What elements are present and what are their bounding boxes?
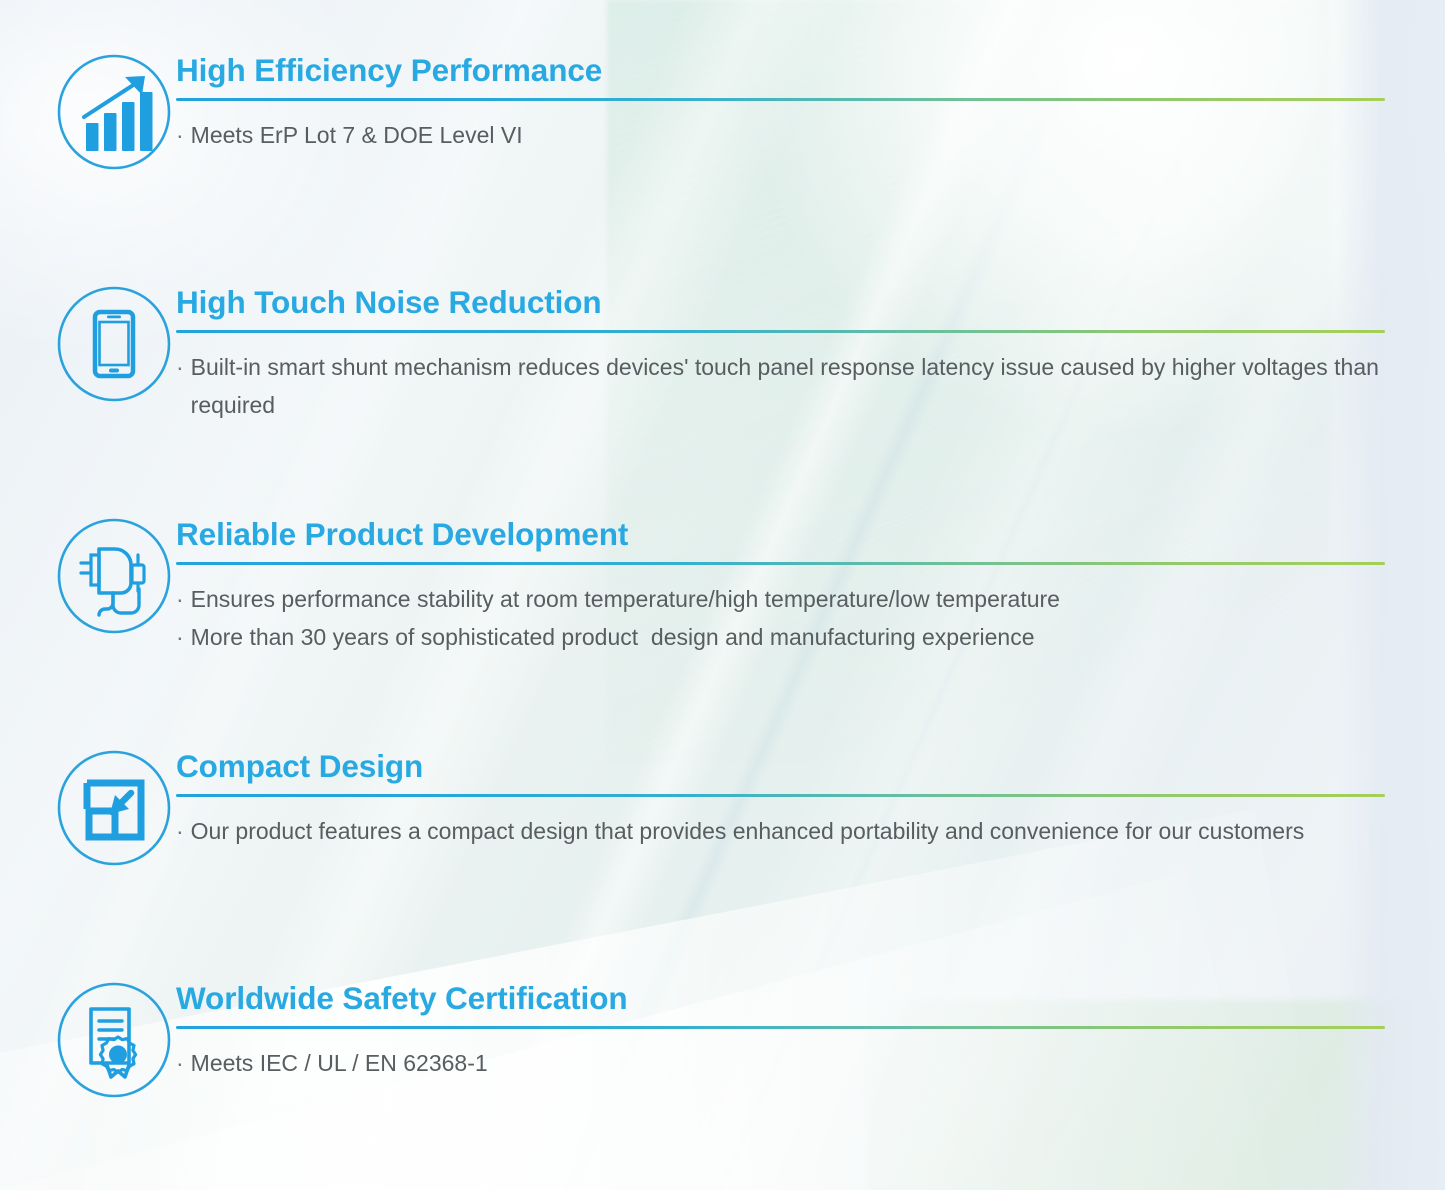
feature-bullets: · Built-in smart shunt mechanism reduces…: [176, 348, 1385, 424]
bar-chart-growth-icon: [54, 52, 174, 172]
bullet-text: Ensures performance stability at room te…: [191, 580, 1385, 618]
feature-divider: [176, 562, 1385, 565]
feature-bullets: · Meets IEC / UL / EN 62368-1: [176, 1044, 1385, 1082]
feature-content: High Touch Noise Reduction · Built-in sm…: [176, 250, 1385, 425]
feature-divider: [176, 330, 1385, 333]
feature-content: Reliable Product Development · Ensures p…: [176, 482, 1385, 657]
feature-divider: [176, 1026, 1385, 1029]
certificate-award-icon: [54, 980, 174, 1100]
feature-title: High Touch Noise Reduction: [176, 284, 1385, 321]
feature-content: Worldwide Safety Certification · Meets I…: [176, 946, 1385, 1082]
feature-title: Worldwide Safety Certification: [176, 980, 1385, 1017]
feature-divider: [176, 794, 1385, 797]
smartphone-icon: [54, 284, 174, 404]
feature-title: High Efficiency Performance: [176, 52, 1385, 89]
feature-bullets: · Meets ErP Lot 7 & DOE Level VI: [176, 116, 1385, 154]
feature-bullets: · Our product features a compact design …: [176, 812, 1385, 850]
feature-icon-container: [52, 714, 176, 868]
feature-item: Reliable Product Development · Ensures p…: [52, 482, 1385, 714]
feature-icon-container: [52, 946, 176, 1100]
feature-item: Worldwide Safety Certification · Meets I…: [52, 946, 1385, 1178]
bullet-text: Built-in smart shunt mechanism reduces d…: [191, 348, 1385, 424]
feature-icon-container: [52, 18, 176, 172]
feature-icon-container: [52, 482, 176, 636]
feature-content: Compact Design · Our product features a …: [176, 714, 1385, 850]
bullet-item: · Meets ErP Lot 7 & DOE Level VI: [176, 116, 1385, 154]
bullet-text: Meets IEC / UL / EN 62368-1: [191, 1044, 1385, 1082]
bullet-marker: ·: [176, 1044, 184, 1082]
feature-title: Compact Design: [176, 748, 1385, 785]
compact-resize-icon: [54, 748, 174, 868]
bullet-marker: ·: [176, 348, 184, 386]
power-adapter-icon: [54, 516, 174, 636]
bullet-item: · Built-in smart shunt mechanism reduces…: [176, 348, 1385, 424]
bullet-marker: ·: [176, 580, 184, 618]
bullet-item: · Ensures performance stability at room …: [176, 580, 1385, 618]
feature-list: High Efficiency Performance · Meets ErP …: [0, 0, 1445, 1190]
feature-icon-container: [52, 250, 176, 404]
bullet-text: Our product features a compact design th…: [191, 812, 1385, 850]
bullet-item: · Meets IEC / UL / EN 62368-1: [176, 1044, 1385, 1082]
feature-item: Compact Design · Our product features a …: [52, 714, 1385, 946]
bullet-item: · Our product features a compact design …: [176, 812, 1385, 850]
feature-divider: [176, 98, 1385, 101]
feature-title: Reliable Product Development: [176, 516, 1385, 553]
bullet-text: More than 30 years of sophisticated prod…: [191, 618, 1385, 656]
bullet-item: · More than 30 years of sophisticated pr…: [176, 618, 1385, 656]
bullet-marker: ·: [176, 812, 184, 850]
bullet-marker: ·: [176, 618, 184, 656]
bullet-text: Meets ErP Lot 7 & DOE Level VI: [191, 116, 1385, 154]
feature-bullets: · Ensures performance stability at room …: [176, 580, 1385, 656]
feature-item: High Touch Noise Reduction · Built-in sm…: [52, 250, 1385, 482]
feature-item: High Efficiency Performance · Meets ErP …: [52, 18, 1385, 250]
feature-content: High Efficiency Performance · Meets ErP …: [176, 18, 1385, 154]
bullet-marker: ·: [176, 116, 184, 154]
